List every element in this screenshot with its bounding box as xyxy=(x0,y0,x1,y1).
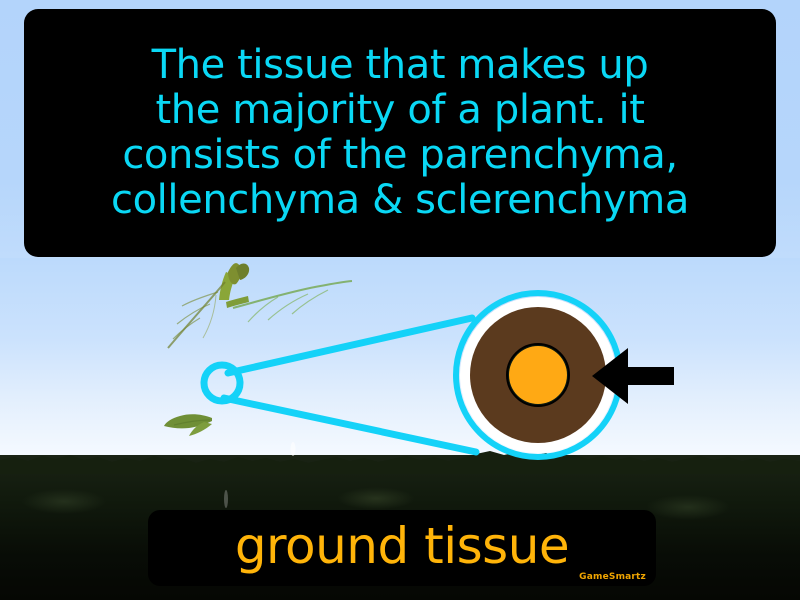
definition-panel: The tissue that makes up the majority of… xyxy=(24,9,776,257)
term-label: ground tissue xyxy=(235,521,569,575)
term-panel: ground tissue GameSmartz xyxy=(148,510,656,586)
definition-text: The tissue that makes up the majority of… xyxy=(34,43,766,222)
watermark-label: GameSmartz xyxy=(579,572,646,582)
apical-bud xyxy=(228,263,249,284)
flashcard-root: The tissue that makes up the majority of… xyxy=(0,0,800,600)
pointer-arrow xyxy=(588,340,682,412)
